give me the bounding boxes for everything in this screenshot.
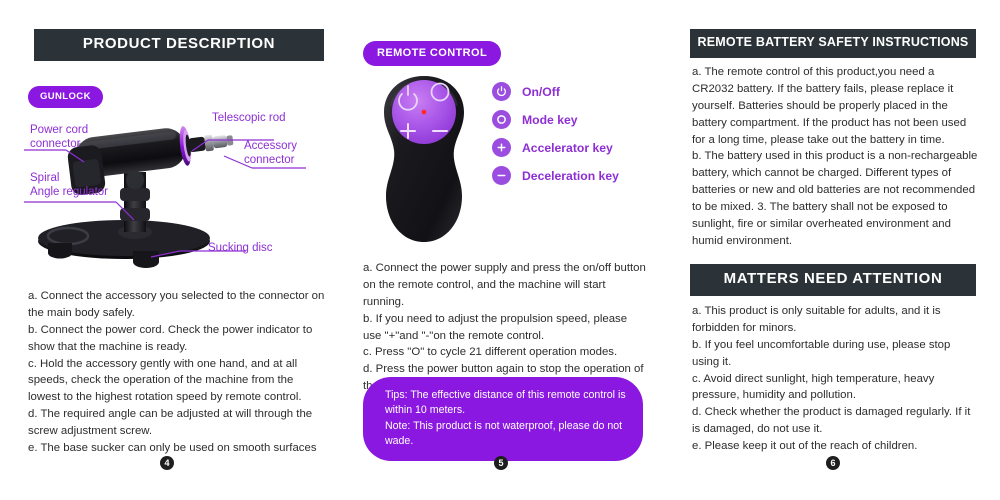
plus-icon [492,138,511,157]
legend-row-onoff: On/Off [492,82,619,101]
attention-item-d: d. Check whether the product is damaged … [692,404,978,438]
badge-gunlock: GUNLOCK [28,86,103,108]
legend-label-onoff: On/Off [522,85,560,99]
column-product-description: PRODUCT DESCRIPTION GUNLOCK [16,0,334,500]
power-icon [492,82,511,101]
attention-item-b: b. If you feel uncomfortable during use,… [692,337,978,371]
page-number-badge-5: 5 [494,456,508,470]
attention-item-e: e. Please keep it out of the reach of ch… [692,438,978,455]
mode-ring-icon [492,110,511,129]
tips-box: Tips: The effective distance of this rem… [363,377,643,461]
attention-text: a. This product is only suitable for adu… [692,303,978,455]
remote-step-b: b. If you need to adjust the propulsion … [363,311,647,345]
remote-led-indicator [422,110,427,115]
column-safety: REMOTE BATTERY SAFETY INSTRUCTIONS a. Th… [690,0,980,500]
step-d: d. The required angle can be adjusted at… [28,406,326,440]
minus-icon [492,166,511,185]
diagram-label-spiral-angle-regulator: Spiral Angle regulator [30,172,108,199]
legend-row-mode: Mode key [492,110,619,129]
battery-item-b: b. The battery used in this product is a… [692,148,978,249]
remote-key-legend: On/Off Mode key Accelerator key [492,82,619,194]
remote-usage-steps: a. Connect the power supply and press th… [363,260,647,395]
remote-control-illustration [368,72,480,252]
remote-step-c: c. Press "O" to cycle 21 different opera… [363,344,647,361]
diagram-label-power-cord-connector: Power cord connector [30,124,88,151]
step-c: c. Hold the accessory gently with one ha… [28,356,326,407]
section-header-product-description: PRODUCT DESCRIPTION [34,29,324,61]
product-diagram: Telescopic rod Accessory connector Power… [16,110,334,275]
page-number-badge-4: 4 [160,456,174,470]
step-e: e. The base sucker can only be used on s… [28,440,326,457]
battery-item-a: a. The remote control of this product,yo… [692,64,978,148]
section-header-matters-need-attention: MATTERS NEED ATTENTION [690,264,976,296]
remote-step-a: a. Connect the power supply and press th… [363,260,647,311]
legend-row-accelerator: Accelerator key [492,138,619,157]
badge-remote-control: REMOTE CONTROL [363,41,501,66]
diagram-label-accessory-connector: Accessory connector [244,140,297,167]
page-number-badge-6: 6 [826,456,840,470]
tips-line-1: Tips: The effective distance of this rem… [385,388,627,419]
battery-safety-text: a. The remote control of this product,yo… [692,64,978,250]
attention-item-c: c. Avoid direct sunlight, high temperatu… [692,371,978,405]
legend-label-accelerator: Accelerator key [522,141,613,155]
tips-line-2: Note: This product is not waterproof, pl… [385,419,627,450]
legend-row-deceleration: Deceleration key [492,166,619,185]
legend-label-deceleration: Deceleration key [522,169,619,183]
step-a: a. Connect the accessory you selected to… [28,288,326,322]
section-header-battery-safety: REMOTE BATTERY SAFETY INSTRUCTIONS [690,29,976,58]
step-b: b. Connect the power cord. Check the pow… [28,322,326,356]
column-remote-control: REMOTE CONTROL [360,0,650,500]
diagram-label-telescopic-rod: Telescopic rod [212,112,286,126]
product-description-steps: a. Connect the accessory you selected to… [28,288,326,457]
legend-label-mode: Mode key [522,113,578,127]
diagram-label-sucking-disc: Sucking disc [208,242,273,256]
attention-item-a: a. This product is only suitable for adu… [692,303,978,337]
manual-page: PRODUCT DESCRIPTION GUNLOCK [0,0,1000,500]
